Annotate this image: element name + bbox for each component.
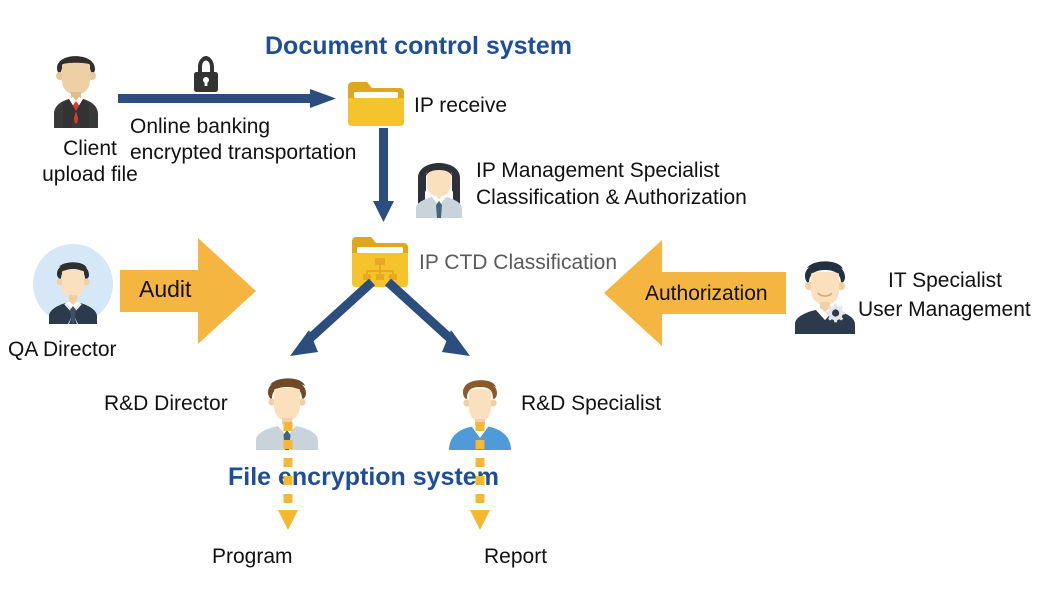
upload-edge-arrow [118,86,340,114]
director-to-program-edge-arrow [274,422,302,532]
node-label-ip-receive: IP receive [414,92,507,119]
node-label-program: Program [212,543,293,570]
node-label-ip-ctd: IP CTD Classification [419,249,617,276]
diagram-canvas: Document control system File encryption … [0,0,1056,600]
node-label-ip-mgmt-line2: Classification & Authorization [476,184,747,211]
edge-label-authorization: Authorization [645,280,768,307]
specialist-to-report-edge-arrow [466,422,494,532]
qa-director-avatar-icon [33,244,113,324]
node-label-qa-director: QA Director [8,336,117,363]
node-label-ip-mgmt-line1: IP Management Specialist [476,157,720,184]
node-label-it-specialist-line1: IT Specialist [888,267,1002,294]
it-specialist-avatar-icon [785,248,865,334]
edge-label-audit: Audit [139,276,191,303]
ctd-to-rd-director-edge-arrow [282,282,378,366]
ctd-to-rd-specialist-edge-arrow [382,282,478,366]
woman-specialist-avatar-icon [408,146,470,218]
edge-label-encrypted-transportation: encrypted transportation [130,139,356,166]
page-title-document-control-system: Document control system [265,32,572,61]
receive-to-ctd-edge-arrow [370,128,398,224]
edge-label-online-banking: Online banking [130,113,270,140]
folder-icon [348,80,404,126]
node-label-rd-director: R&D Director [104,390,228,417]
businessman-avatar-icon [30,38,122,130]
node-label-it-specialist-line2: User Management [858,296,1031,323]
node-label-report: Report [484,543,547,570]
section-title-file-encryption-system: File encryption system [228,463,499,492]
node-label-rd-specialist: R&D Specialist [521,390,661,417]
folder-hierarchy-icon [352,235,408,287]
